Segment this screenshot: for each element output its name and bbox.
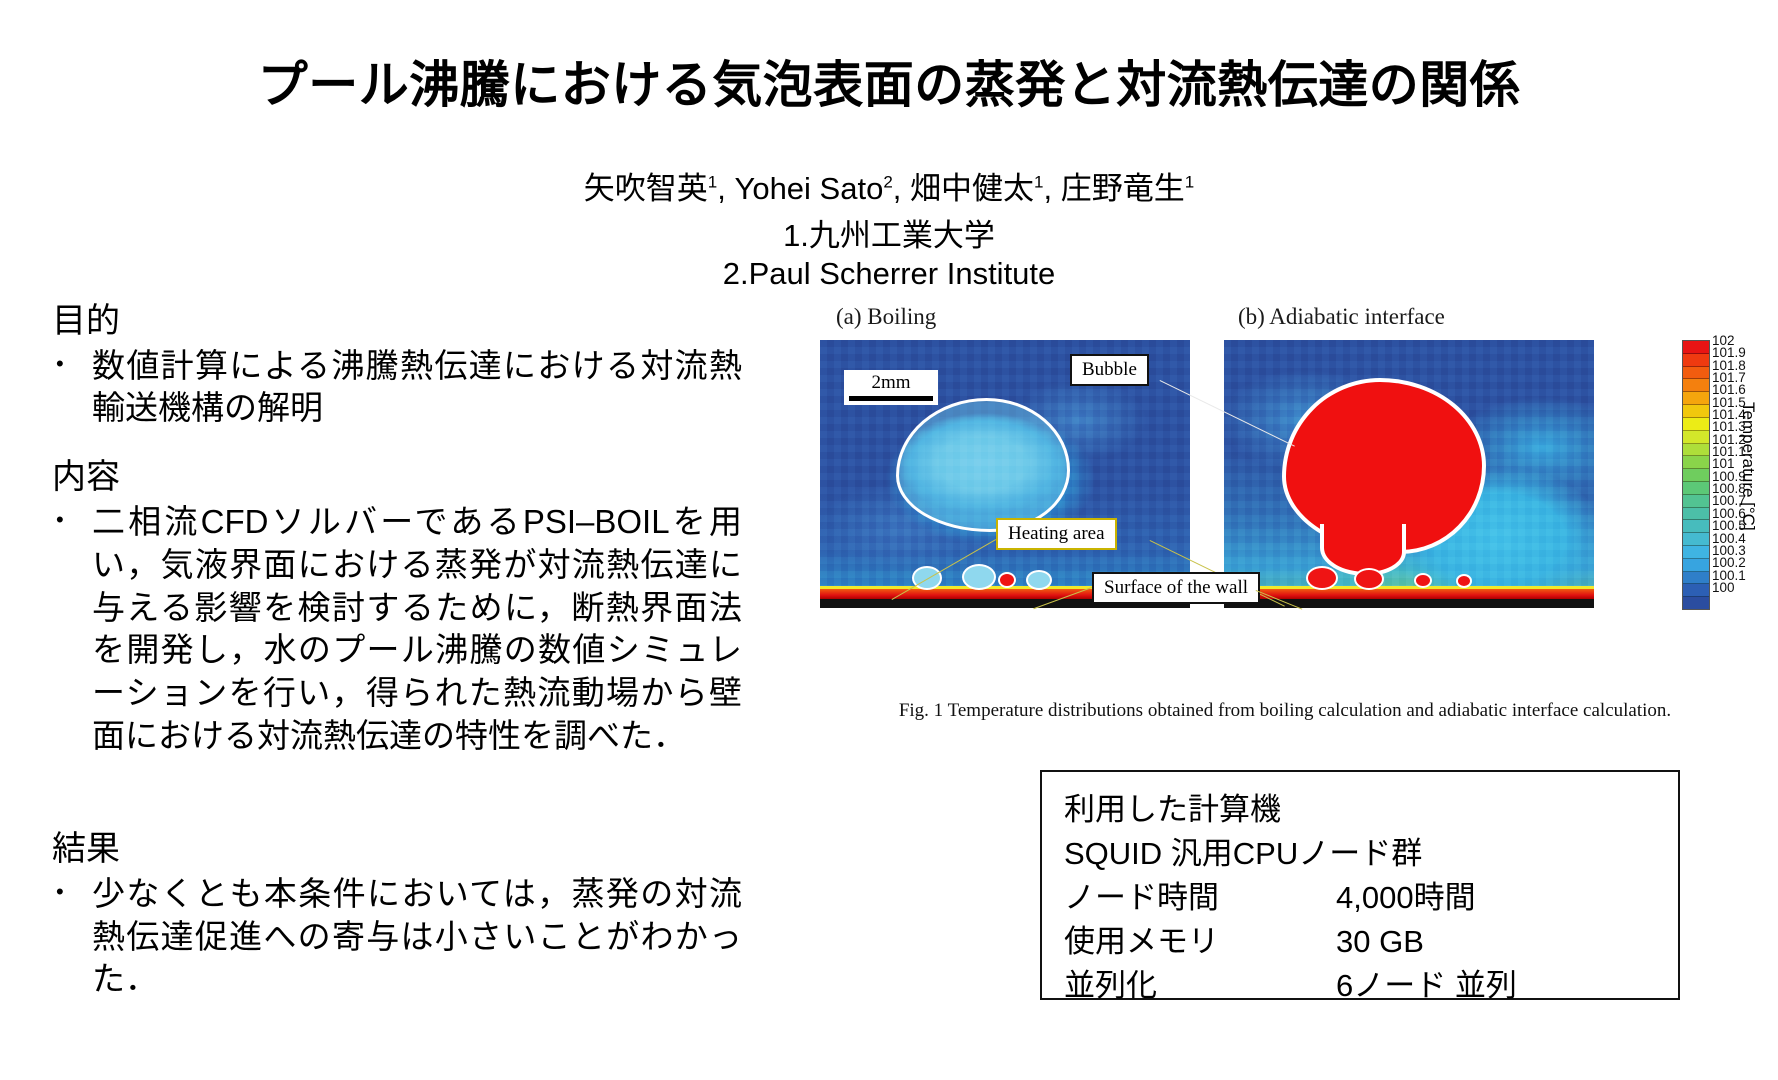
- bullet-purpose-text: 数値計算による沸騰熱伝達における対流熱輸送機構の解明: [92, 345, 742, 431]
- scale-bar-rule: [849, 396, 933, 401]
- bullet-result-text: 少なくとも本条件においては，蒸発の対流熱伝達促進への寄与は小さいことがわかった．: [92, 873, 742, 1002]
- callout-heating-area: Heating area: [996, 518, 1117, 550]
- figure-1: (a) Boiling (b) Adiabatic interface 2mm: [820, 340, 1732, 685]
- bubble-interface-b: [1282, 378, 1486, 554]
- section-heading-result: 結果: [52, 828, 742, 871]
- colorbar-cell: [1683, 341, 1709, 354]
- panel-b-label: (b) Adiabatic interface: [1238, 304, 1445, 330]
- figure-caption: Fig. 1 Temperature distributions obtaine…: [820, 700, 1750, 722]
- resources-system: SQUID 汎用CPUノード群: [1064, 832, 1678, 876]
- spacer-purpose-content: [52, 430, 742, 456]
- micro-bubble: [1026, 570, 1052, 590]
- colorbar: [1682, 340, 1710, 610]
- left-content-column: 目的 • 数値計算による沸騰熱伝達における対流熱輸送機構の解明 内容 • 二相流…: [52, 300, 742, 1001]
- colorbar-title: Temperature [°C]: [1738, 402, 1758, 531]
- callout-bubble: Bubble: [1070, 354, 1149, 386]
- colorbar-cell: [1683, 431, 1709, 444]
- colorbar-cell: [1683, 482, 1709, 495]
- bullet-marker-icon: •: [52, 873, 92, 912]
- panel-a-label: (a) Boiling: [836, 304, 936, 330]
- micro-bubble: [1306, 566, 1338, 590]
- author-list-text: 矢吹智英1, Yohei Sato2, 畑中健太1, 庄野竜生1: [584, 171, 1194, 206]
- colorbar-cell: [1683, 456, 1709, 469]
- colorbar-cell: [1683, 559, 1709, 572]
- resources-row: 並列化6ノード 並列: [1064, 964, 1678, 1008]
- bullet-content: • 二相流CFDソルバーであるPSI–BOILを用い，気液界面における蒸発が対流…: [52, 501, 742, 758]
- scale-bar-label: 2mm: [845, 372, 937, 394]
- bullet-purpose: • 数値計算による沸騰熱伝達における対流熱輸送機構の解明: [52, 345, 742, 431]
- resources-row-key: 並列化: [1064, 964, 1336, 1008]
- micro-bubble: [998, 572, 1016, 588]
- bullet-content-text: 二相流CFDソルバーであるPSI–BOILを用い，気液界面における蒸発が対流熱伝…: [92, 501, 742, 758]
- resources-row-value: 30 GB: [1336, 920, 1678, 964]
- colorbar-cell: [1683, 584, 1709, 597]
- micro-bubble: [1354, 568, 1384, 590]
- resources-heading: 利用した計算機: [1064, 788, 1678, 832]
- colorbar-cell: [1683, 495, 1709, 508]
- slide-root: プール沸騰における気泡表面の蒸発と対流熱伝達の関係 矢吹智英1, Yohei S…: [0, 0, 1778, 1080]
- colorbar-cell: [1683, 520, 1709, 533]
- colorbar-cell: [1683, 469, 1709, 482]
- bullet-marker-icon: •: [52, 501, 92, 540]
- bullet-result: • 少なくとも本条件においては，蒸発の対流熱伝達促進への寄与は小さいことがわかっ…: [52, 873, 742, 1002]
- colorbar-cell: [1683, 379, 1709, 392]
- colorbar-cell: [1683, 354, 1709, 367]
- section-heading-purpose: 目的: [52, 300, 742, 343]
- micro-bubble: [962, 564, 996, 590]
- resources-row: ノード時間4,000時間: [1064, 876, 1678, 920]
- author-list: 矢吹智英1, Yohei Sato2, 畑中健太1, 庄野竜生1: [0, 168, 1778, 211]
- colorbar-cell: [1683, 418, 1709, 431]
- colorbar-tick: 100: [1712, 582, 1772, 594]
- affiliation-1: 1.九州工業大学: [0, 210, 1778, 255]
- colorbar-cell: [1683, 533, 1709, 546]
- colorbar-cell: [1683, 508, 1709, 521]
- micro-bubble: [1456, 574, 1472, 588]
- computing-resources-box: 利用した計算機 SQUID 汎用CPUノード群 ノード時間4,000時間使用メモ…: [1040, 770, 1680, 1000]
- colorbar-cell: [1683, 572, 1709, 585]
- resources-row-value: 4,000時間: [1336, 876, 1678, 920]
- colorbar-cell: [1683, 597, 1709, 609]
- scale-bar: 2mm: [844, 370, 938, 405]
- callout-surface: Surface of the wall: [1092, 572, 1260, 604]
- bullet-marker-icon: •: [52, 345, 92, 384]
- colorbar-cell: [1683, 367, 1709, 380]
- colorbar-cell: [1683, 546, 1709, 559]
- resources-row: 使用メモリ30 GB: [1064, 920, 1678, 964]
- micro-bubble: [1414, 573, 1432, 588]
- spacer-content-result: [52, 758, 742, 828]
- resources-row-key: 使用メモリ: [1064, 920, 1336, 964]
- colorbar-cell: [1683, 405, 1709, 418]
- colorbar-cell: [1683, 444, 1709, 457]
- panel-b-adiabatic: [1224, 340, 1594, 608]
- resources-row-value: 6ノード 並列: [1336, 964, 1678, 1008]
- resources-rows: ノード時間4,000時間使用メモリ30 GB並列化6ノード 並列: [1064, 876, 1678, 1008]
- affiliation-2: 2.Paul Scherrer Institute: [0, 256, 1778, 292]
- resources-row-key: ノード時間: [1064, 876, 1336, 920]
- section-heading-content: 内容: [52, 456, 742, 499]
- page-title: プール沸騰における気泡表面の蒸発と対流熱伝達の関係: [0, 58, 1778, 113]
- colorbar-cell: [1683, 392, 1709, 405]
